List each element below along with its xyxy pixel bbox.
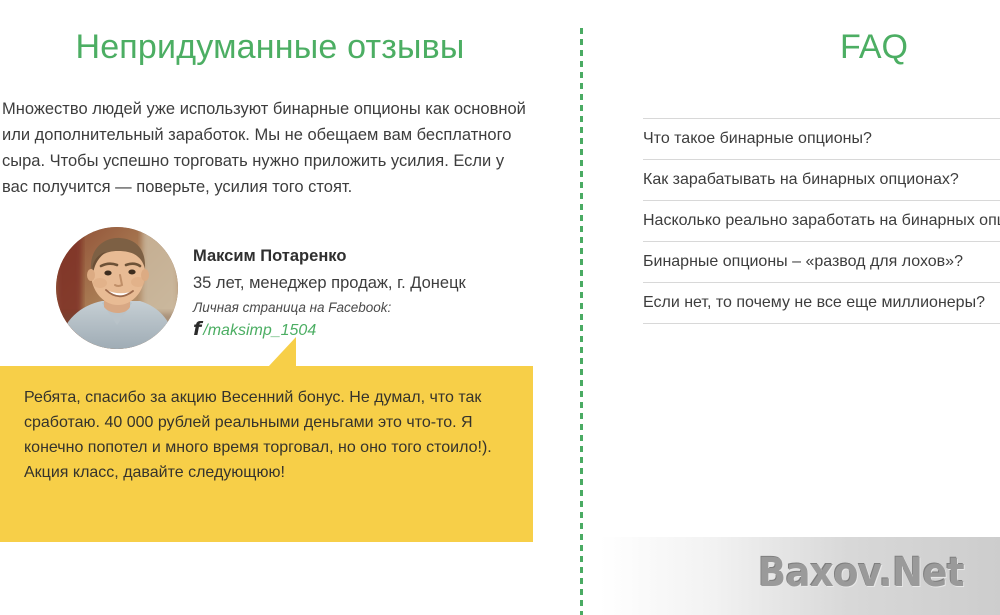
testimonial-text: Ребята, спасибо за акцию Весенний бонус.… bbox=[24, 385, 502, 485]
page-title-faq: FAQ bbox=[600, 28, 1000, 67]
faq-item[interactable]: Бинарные опционы – «развод для лохов»? bbox=[643, 241, 1000, 282]
faq-item[interactable]: Если нет, то почему не все еще миллионер… bbox=[643, 282, 1000, 324]
person-name: Максим Потаренко bbox=[193, 244, 533, 268]
avatar bbox=[56, 227, 178, 349]
watermark-logo: Baxov.Net bbox=[758, 550, 964, 596]
testimonials-section: Непридуманные отзывы Множество людей уже… bbox=[0, 0, 560, 615]
facebook-icon: f bbox=[193, 318, 201, 340]
person-info: Максим Потаренко 35 лет, менеджер продаж… bbox=[193, 244, 533, 342]
faq-section: FAQ Что такое бинарные опционы? Как зара… bbox=[600, 0, 1000, 615]
vertical-dashed-divider bbox=[580, 28, 583, 615]
facebook-profile-link[interactable]: /maksimp_1504 bbox=[203, 320, 316, 342]
facebook-label: Личная страница на Facebook: bbox=[193, 298, 533, 317]
faq-item[interactable]: Что такое бинарные опционы? bbox=[643, 118, 1000, 159]
person-card: Максим Потаренко 35 лет, менеджер продаж… bbox=[0, 222, 540, 352]
faq-item[interactable]: Насколько реально заработать на бинарных… bbox=[643, 200, 1000, 241]
avatar-photo bbox=[56, 227, 178, 349]
faq-list: Что такое бинарные опционы? Как зарабаты… bbox=[643, 118, 1000, 324]
page-title-testimonials: Непридуманные отзывы bbox=[0, 28, 540, 67]
bubble-tail bbox=[268, 337, 296, 367]
faq-item[interactable]: Как зарабатывать на бинарных опционах? bbox=[643, 159, 1000, 200]
intro-paragraph: Множество людей уже используют бинарные … bbox=[2, 96, 532, 200]
facebook-link-row[interactable]: f /maksimp_1504 bbox=[193, 318, 533, 342]
person-meta: 35 лет, менеджер продаж, г. Донецк bbox=[193, 271, 533, 295]
